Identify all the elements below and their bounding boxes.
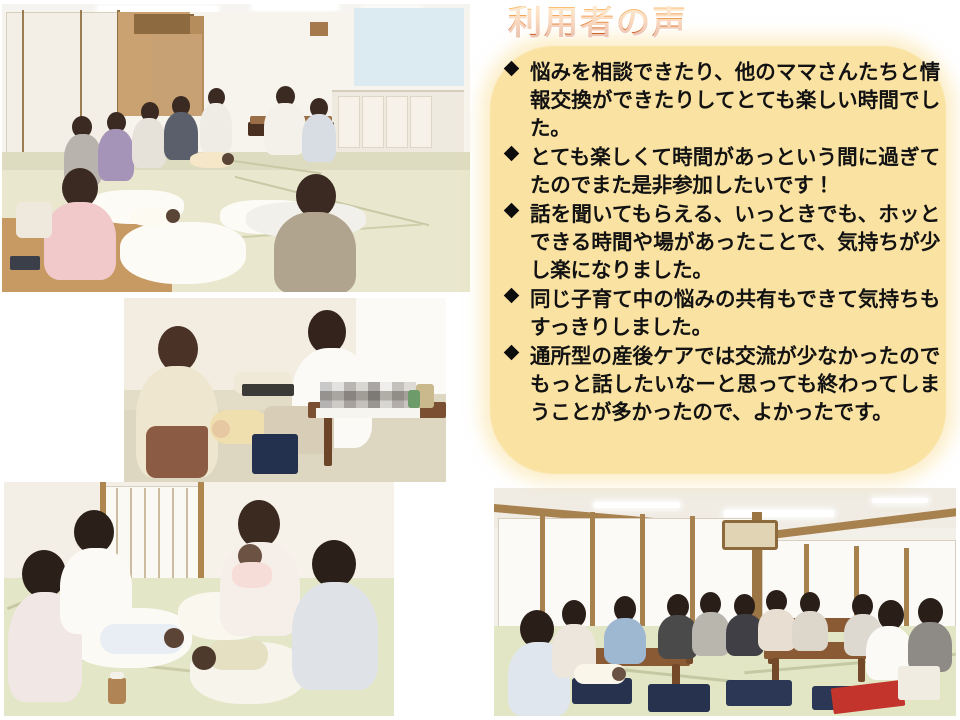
photo-scene xyxy=(2,4,470,292)
diamond-bullet-icon xyxy=(504,288,520,304)
testimonial-item: 悩みを相談できたり、他のママさんたちと情報交換ができたりしてとても楽しい時間でし… xyxy=(504,58,940,142)
photo-two-women-talking xyxy=(124,298,446,482)
photo-scene xyxy=(124,298,446,482)
photo-mothers-babies-floor xyxy=(4,482,394,716)
testimonial-text: 話を聞いてもらえる、いっときでも、ホッとできる時間や場があったことで、気持ちが少… xyxy=(530,202,940,282)
diamond-bullet-icon xyxy=(504,203,520,219)
testimonial-item: 同じ子育て中の悩みの共有もできて気持ちもすっきりしました。 xyxy=(504,285,940,341)
testimonial-list: 悩みを相談できたり、他のママさんたちと情報交換ができたりしてとても楽しい時間でし… xyxy=(504,58,940,466)
photo-scene xyxy=(4,482,394,716)
photo-large-room-tables xyxy=(494,488,956,716)
testimonial-item: 通所型の産後ケアでは交流が少なかったのでもっと話したいなーと思っても終わってしま… xyxy=(504,342,940,426)
diamond-bullet-icon xyxy=(504,61,520,77)
censored-document xyxy=(320,382,416,410)
page-title: 利用者の声 xyxy=(508,6,688,40)
wooden-plaque xyxy=(722,520,778,550)
photo-group-circle-tatami xyxy=(2,4,470,292)
diamond-bullet-icon xyxy=(504,146,520,162)
diamond-bullet-icon xyxy=(504,345,520,361)
testimonial-text: 同じ子育て中の悩みの共有もできて気持ちもすっきりしました。 xyxy=(530,287,940,339)
testimonial-text: 悩みを相談できたり、他のママさんたちと情報交換ができたりしてとても楽しい時間でし… xyxy=(530,60,940,140)
poster-page: 利用者の声 悩みを相談できたり、他のママさんたちと情報交換ができたりしてとても楽… xyxy=(0,0,960,720)
testimonial-text: 通所型の産後ケアでは交流が少なかったのでもっと話したいなーと思っても終わってしま… xyxy=(530,344,940,424)
testimonial-text: とても楽しくて時間があっという間に過ぎてたのでまた是非参加したいです！ xyxy=(530,145,940,197)
testimonial-item: とても楽しくて時間があっという間に過ぎてたのでまた是非参加したいです！ xyxy=(504,143,940,199)
photo-scene xyxy=(494,488,956,716)
testimonial-item: 話を聞いてもらえる、いっときでも、ホッとできる時間や場があったことで、気持ちが少… xyxy=(504,200,940,284)
